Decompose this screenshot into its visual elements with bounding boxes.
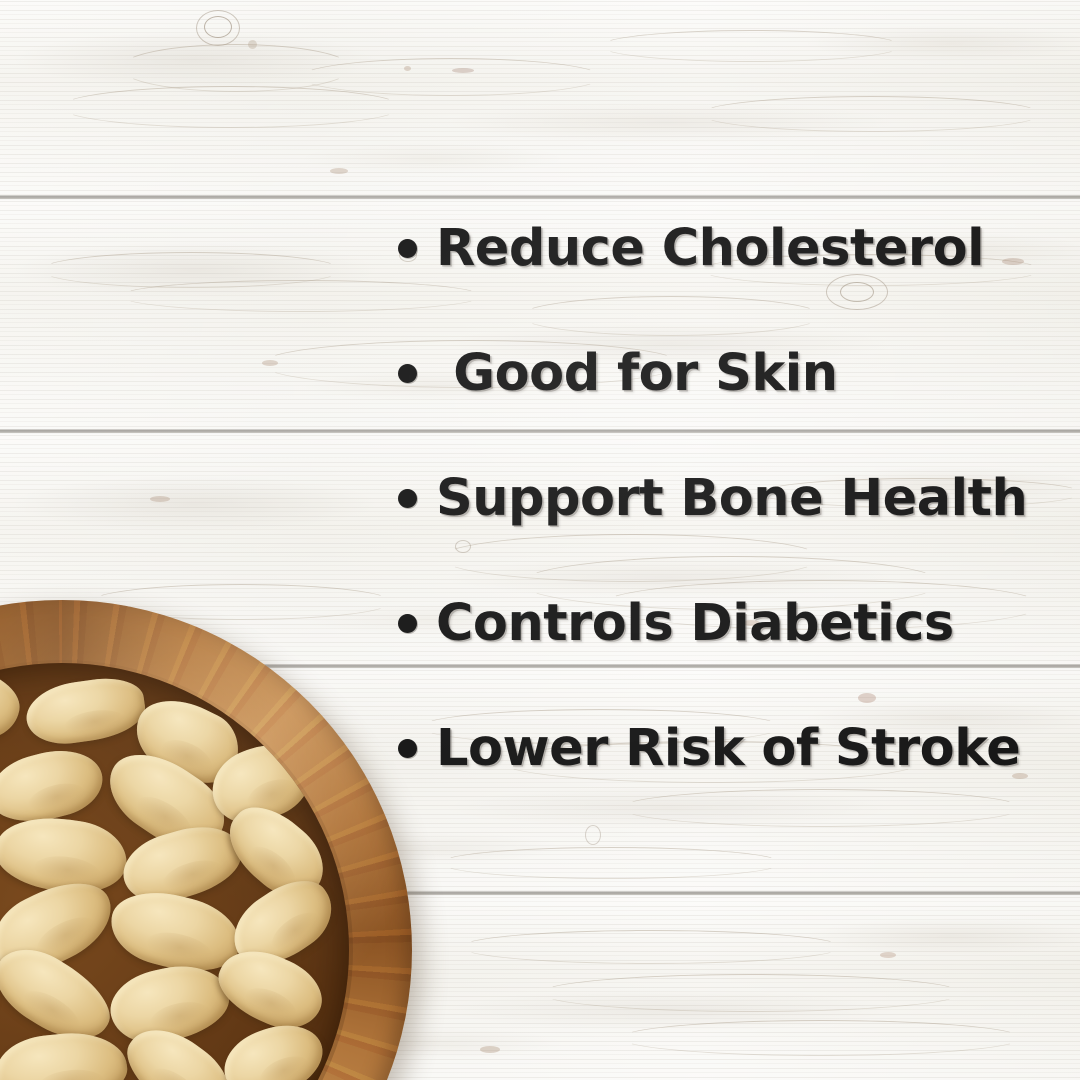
list-item: Controls Diabetics [398, 561, 1058, 686]
list-item: Reduce Cholesterol [398, 186, 1058, 311]
bullet-icon [398, 239, 417, 258]
wood-knot-icon [204, 16, 232, 38]
wood-plank [0, 896, 1080, 1080]
list-item: Lower Risk of Stroke [398, 686, 1058, 811]
benefit-label: Lower Risk of Stroke [436, 723, 1020, 774]
list-item: Good for Skin [398, 311, 1058, 436]
bullet-icon [398, 489, 417, 508]
benefit-label: Controls Diabetics [436, 598, 954, 649]
poster-canvas: Reduce Cholesterol Good for Skin Support… [0, 0, 1080, 1080]
benefits-list: Reduce Cholesterol Good for Skin Support… [398, 186, 1058, 811]
wood-plank [0, 0, 1080, 198]
bullet-icon [398, 739, 417, 758]
benefit-label: Good for Skin [436, 348, 838, 399]
bullet-icon [398, 614, 417, 633]
benefit-label: Reduce Cholesterol [436, 223, 984, 274]
bullet-icon [398, 364, 417, 383]
wood-knot-icon [585, 825, 601, 845]
benefit-label: Support Bone Health [436, 473, 1027, 524]
list-item: Support Bone Health [398, 436, 1058, 561]
